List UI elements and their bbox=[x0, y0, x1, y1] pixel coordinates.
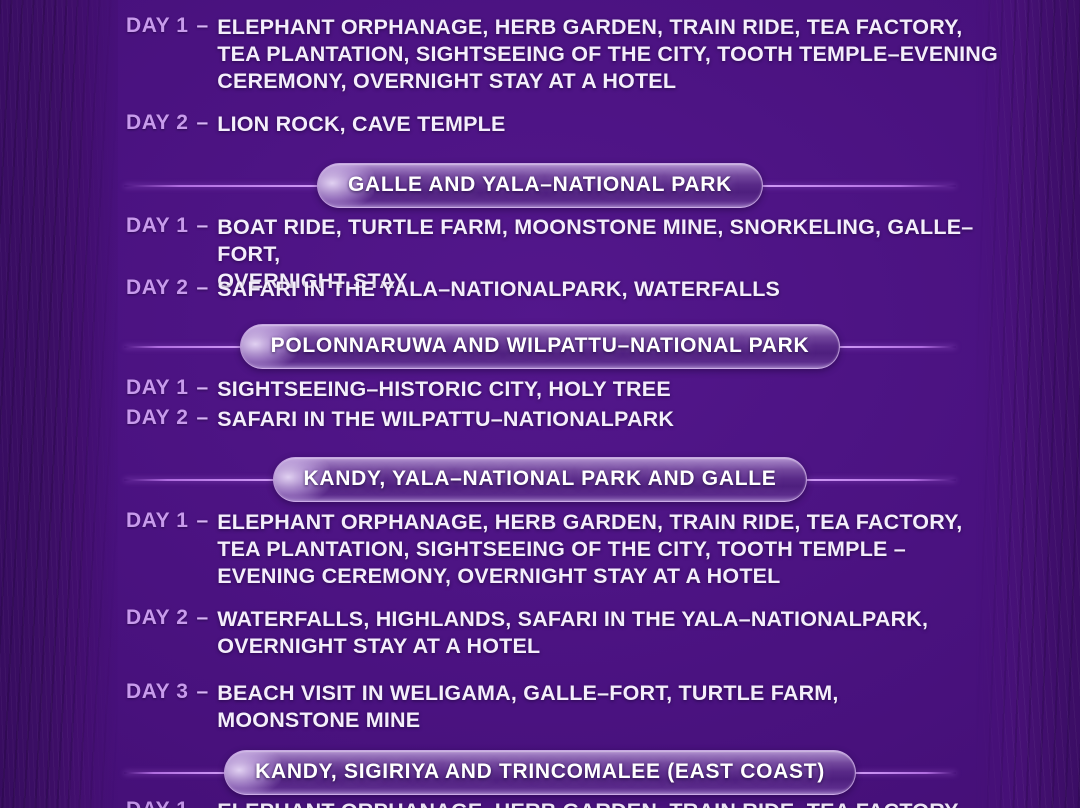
day-row: DAY 2 – LION ROCK, CAVE TEMPLE bbox=[126, 111, 1020, 138]
divider-line-right bbox=[834, 346, 956, 348]
section-header-galle-yala: GALLE AND YALA–NATIONAL PARK bbox=[0, 163, 1080, 208]
clipped-day-row: DAY 1 – ELEPHANT ORPHANAGE, HERB GARDEN,… bbox=[126, 798, 1020, 808]
divider-line-right bbox=[801, 479, 956, 481]
day-row: DAY 1 – ELEPHANT ORPHANAGE, HERB GARDEN,… bbox=[126, 14, 1020, 95]
day-row: DAY 3 – BEACH VISIT IN WELIGAMA, GALLE–F… bbox=[126, 680, 1020, 734]
section-title-pill[interactable]: GALLE AND YALA–NATIONAL PARK bbox=[317, 163, 763, 208]
section-title-label: KANDY, YALA–NATIONAL PARK AND GALLE bbox=[304, 467, 777, 491]
day-label: DAY 1 bbox=[126, 509, 189, 533]
day-dash: – bbox=[197, 509, 209, 533]
day-label: DAY 2 bbox=[126, 111, 189, 135]
section-header-kandy-yala-galle: KANDY, YALA–NATIONAL PARK AND GALLE bbox=[0, 457, 1080, 502]
day-activities: ELEPHANT ORPHANAGE, HERB GARDEN, TRAIN R… bbox=[217, 14, 1020, 95]
day-label: DAY 1 bbox=[126, 376, 189, 400]
day-activities: ELEPHANT ORPHANAGE, HERB GARDEN, TRAIN R… bbox=[217, 798, 1020, 808]
itinerary-poster: DAY 1 – ELEPHANT ORPHANAGE, HERB GARDEN,… bbox=[0, 0, 1080, 808]
day-label: DAY 3 bbox=[126, 680, 189, 704]
section-title-pill[interactable]: KANDY, YALA–NATIONAL PARK AND GALLE bbox=[273, 457, 808, 502]
day-dash: – bbox=[197, 376, 209, 400]
section-title-label: POLONNARUWA AND WILPATTU–NATIONAL PARK bbox=[271, 334, 810, 358]
itinerary-content: DAY 1 – ELEPHANT ORPHANAGE, HERB GARDEN,… bbox=[0, 0, 1080, 808]
section-title-label: GALLE AND YALA–NATIONAL PARK bbox=[348, 173, 732, 197]
divider-line-left bbox=[124, 772, 230, 774]
day-label: DAY 1 bbox=[126, 14, 189, 38]
day-row: DAY 2 – SAFARI IN THE YALA–NATIONALPARK,… bbox=[126, 276, 1020, 303]
day-dash: – bbox=[197, 214, 209, 238]
day-label: DAY 2 bbox=[126, 406, 189, 430]
day-activities: SAFARI IN THE WILPATTU–NATIONALPARK bbox=[217, 406, 1020, 433]
day-activities: BEACH VISIT IN WELIGAMA, GALLE–FORT, TUR… bbox=[217, 680, 1020, 734]
divider-line-left bbox=[124, 346, 246, 348]
day-label: DAY 2 bbox=[126, 276, 189, 300]
day-activities: ELEPHANT ORPHANAGE, HERB GARDEN, TRAIN R… bbox=[217, 509, 1020, 590]
day-dash: – bbox=[197, 14, 209, 38]
divider-line-right bbox=[850, 772, 956, 774]
section-title-pill[interactable]: POLONNARUWA AND WILPATTU–NATIONAL PARK bbox=[240, 324, 841, 369]
section-header-polonnaruwa-wilpattu: POLONNARUWA AND WILPATTU–NATIONAL PARK bbox=[0, 324, 1080, 369]
day-dash: – bbox=[197, 606, 209, 630]
day-label: DAY 1 bbox=[126, 214, 189, 238]
day-activities: WATERFALLS, HIGHLANDS, SAFARI IN THE YAL… bbox=[217, 606, 1020, 660]
day-row: DAY 2 – SAFARI IN THE WILPATTU–NATIONALP… bbox=[126, 406, 1020, 433]
day-dash: – bbox=[197, 406, 209, 430]
day-dash: – bbox=[197, 798, 209, 808]
day-activities: SIGHTSEEING–HISTORIC CITY, HOLY TREE bbox=[217, 376, 1020, 403]
section-header-kandy-sigiriya-trincomalee: KANDY, SIGIRIYA AND TRINCOMALEE (EAST CO… bbox=[0, 750, 1080, 795]
section-title-label: KANDY, SIGIRIYA AND TRINCOMALEE (EAST CO… bbox=[255, 760, 825, 784]
day-activities: SAFARI IN THE YALA–NATIONALPARK, WATERFA… bbox=[217, 276, 1020, 303]
day-dash: – bbox=[197, 680, 209, 704]
day-row: DAY 1 – ELEPHANT ORPHANAGE, HERB GARDEN,… bbox=[126, 509, 1020, 590]
divider-line-left bbox=[124, 185, 323, 187]
day-dash: – bbox=[197, 111, 209, 135]
day-activities: LION ROCK, CAVE TEMPLE bbox=[217, 111, 1020, 138]
day-row: DAY 2 – WATERFALLS, HIGHLANDS, SAFARI IN… bbox=[126, 606, 1020, 660]
day-dash: – bbox=[197, 276, 209, 300]
divider-line-right bbox=[757, 185, 956, 187]
divider-line-left bbox=[124, 479, 279, 481]
day-label: DAY 2 bbox=[126, 606, 189, 630]
day-row: DAY 1 – SIGHTSEEING–HISTORIC CITY, HOLY … bbox=[126, 376, 1020, 403]
section-title-pill[interactable]: KANDY, SIGIRIYA AND TRINCOMALEE (EAST CO… bbox=[224, 750, 856, 795]
day-label: DAY 1 bbox=[126, 798, 189, 808]
